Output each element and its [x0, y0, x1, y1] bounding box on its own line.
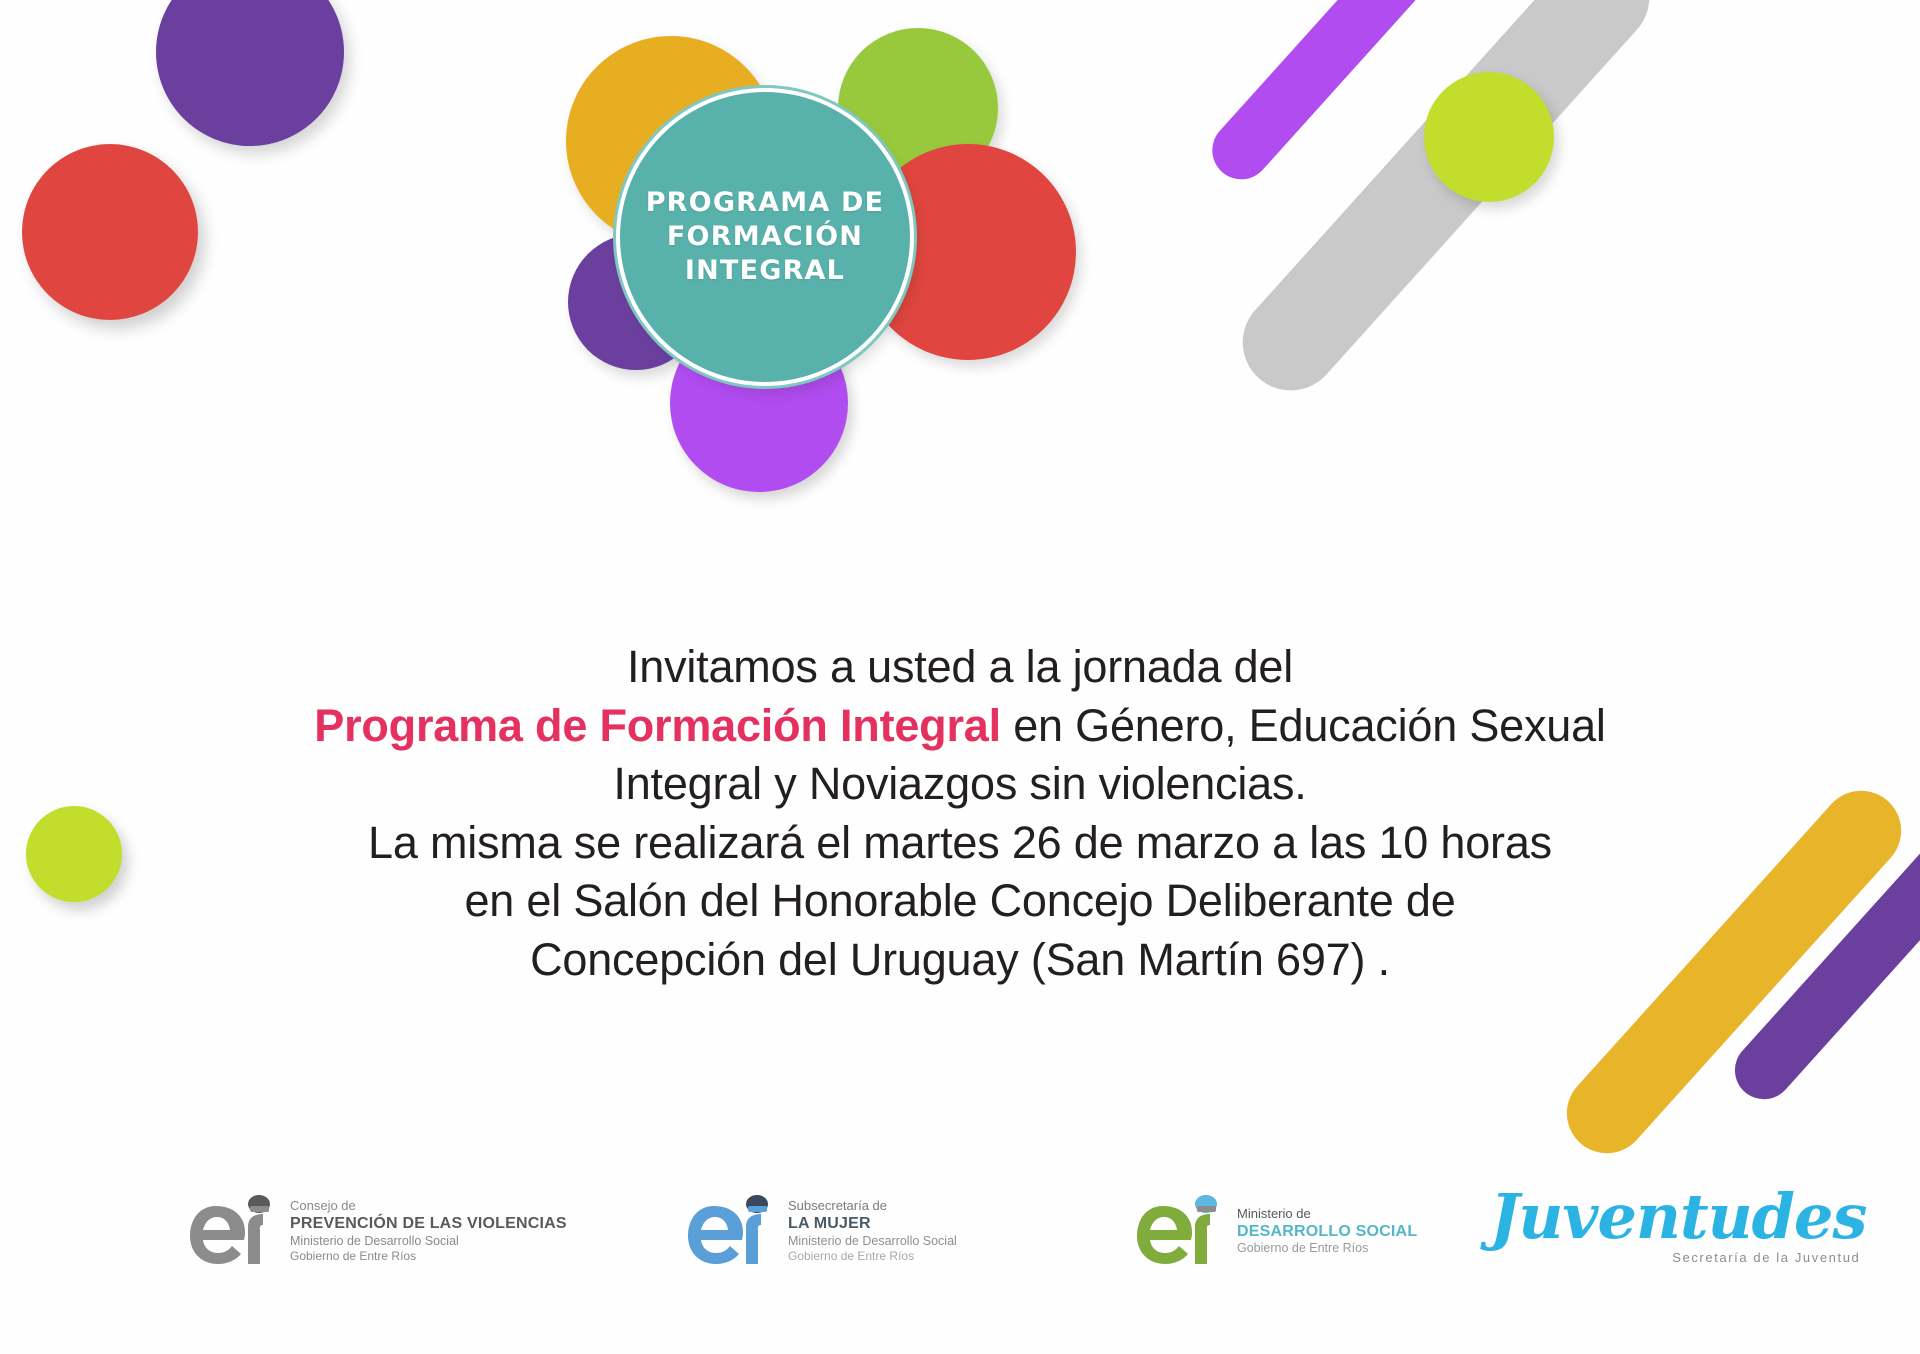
logo-ministerio-line-3: Gobierno de Entre Ríos — [1237, 1241, 1417, 1256]
logo-prevencion-line-4: Gobierno de Entre Ríos — [290, 1249, 567, 1264]
invitation-line-1: Invitamos a usted a la jornada del — [0, 638, 1920, 697]
juventudes-wordmark: Juventudes — [1490, 1186, 1866, 1248]
program-name-highlight: Programa de Formación Integral — [314, 700, 1001, 751]
logo-ministerio-line-1: Ministerio de — [1237, 1206, 1417, 1222]
logo-ministerio-desarrollo-social: Ministerio de DESARROLLO SOCIAL Gobierno… — [1133, 1194, 1417, 1268]
invitation-line-6: Concepción del Uruguay (San Martín 697) … — [0, 931, 1920, 990]
er-mark-green-icon — [1133, 1194, 1225, 1268]
invitation-line-3: Integral y Noviazgos sin violencias. — [0, 755, 1920, 814]
program-logo-cluster: PROGRAMA DE FORMACIÓN INTEGRAL — [556, 16, 1036, 486]
program-title-line-3: INTEGRAL — [685, 255, 845, 286]
footer-logo-strip: Consejo de PREVENCIÓN DE LAS VIOLENCIAS … — [0, 1180, 1920, 1320]
decor-circle-red-left — [22, 144, 198, 320]
logo-juventudes: Juventudes Secretaría de la Juventud — [1490, 1186, 1866, 1265]
invitation-line-4: La misma se realizará el martes 26 de ma… — [0, 814, 1920, 873]
logo-ministerio-text: Ministerio de DESARROLLO SOCIAL Gobierno… — [1237, 1206, 1417, 1257]
er-mark-blue-icon — [684, 1194, 776, 1268]
logo-subsecretaria-mujer: Subsecretaría de LA MUJER Ministerio de … — [684, 1194, 957, 1268]
invitation-line-5: en el Salón del Honorable Concejo Delibe… — [0, 872, 1920, 931]
decor-bar-gray-top-right — [1223, 0, 1669, 410]
logo-mujer-line-4: Gobierno de Entre Ríos — [788, 1249, 957, 1264]
program-title: PROGRAMA DE FORMACIÓN INTEGRAL — [646, 186, 885, 288]
logo-mujer-text: Subsecretaría de LA MUJER Ministerio de … — [788, 1198, 957, 1263]
invitation-line-2: Programa de Formación Integral en Género… — [0, 697, 1920, 756]
logo-prevencion-line-2: PREVENCIÓN DE LAS VIOLENCIAS — [290, 1214, 567, 1234]
decor-circle-lime-top-right — [1424, 72, 1554, 202]
logo-prevencion-violencias: Consejo de PREVENCIÓN DE LAS VIOLENCIAS … — [186, 1194, 567, 1268]
logo-mujer-line-3: Ministerio de Desarrollo Social — [788, 1234, 957, 1249]
program-title-line-2: FORMACIÓN — [667, 221, 863, 252]
logo-prevencion-line-3: Ministerio de Desarrollo Social — [290, 1234, 567, 1249]
er-mark-gray-icon — [186, 1194, 278, 1268]
invitation-text: Invitamos a usted a la jornada del Progr… — [0, 638, 1920, 989]
logo-prevencion-text: Consejo de PREVENCIÓN DE LAS VIOLENCIAS … — [290, 1198, 567, 1263]
decor-circle-purple-top-left — [156, 0, 344, 146]
logo-mujer-line-1: Subsecretaría de — [788, 1198, 957, 1214]
decor-bar-purple-top-right — [1200, 0, 1473, 191]
logo-badge-teal: PROGRAMA DE FORMACIÓN INTEGRAL — [620, 92, 910, 382]
program-title-line-1: PROGRAMA DE — [646, 187, 885, 218]
logo-ministerio-line-2: DESARROLLO SOCIAL — [1237, 1222, 1417, 1242]
logo-mujer-line-2: LA MUJER — [788, 1214, 957, 1234]
logo-prevencion-line-1: Consejo de — [290, 1198, 567, 1214]
invitation-line-2-rest: en Género, Educación Sexual — [1001, 700, 1606, 751]
